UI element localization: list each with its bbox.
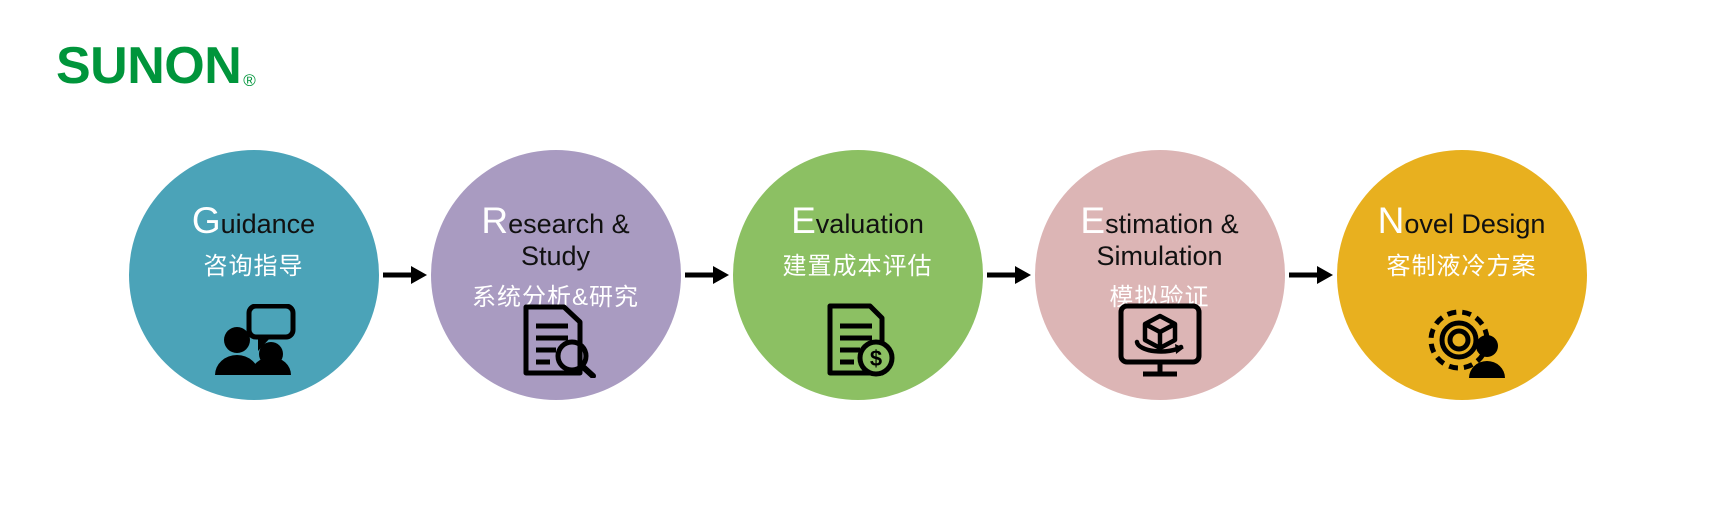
arrow-right-icon	[983, 255, 1035, 295]
monitor-3d-cube-icon	[1117, 302, 1203, 378]
people-speech-bubble-icon	[211, 302, 297, 378]
flow-step-estimation-simulation[interactable]: Estimation & Simulation 模拟验证	[1035, 150, 1285, 400]
flow-step-title-line2: Simulation	[1080, 241, 1238, 273]
flow-step-title: Novel Design	[1378, 202, 1546, 241]
svg-text:$: $	[869, 346, 881, 371]
process-flow-diagram: Guidance 咨询指导 R	[0, 140, 1715, 410]
arrow-right-icon	[681, 255, 733, 295]
flow-step-subtitle: 建置成本评估	[783, 246, 933, 281]
flow-step-title-initial: E	[1080, 200, 1105, 241]
flow-step-title: Guidance	[192, 202, 315, 241]
flow-step-research-study[interactable]: Research & Study 系统分析&研究	[431, 150, 681, 400]
flow-step-title: Research & Study	[481, 202, 629, 272]
flow-step-subtitle: 咨询指导	[204, 246, 304, 281]
document-dollar-icon: $	[815, 302, 901, 378]
registered-trademark-icon: ®	[243, 72, 256, 89]
flow-step-novel-design[interactable]: Novel Design 客制液冷方案	[1337, 150, 1587, 400]
arrow-right-icon	[1285, 255, 1337, 295]
flow-step-title-initial: G	[192, 200, 221, 241]
arrow-right-icon	[379, 255, 431, 295]
logo-wordmark: SUNON	[56, 40, 241, 92]
flow-step-title-rest: valuation	[816, 209, 924, 239]
flow-step-subtitle: 客制液冷方案	[1387, 246, 1537, 281]
document-magnifier-icon	[513, 302, 599, 378]
flow-step-title-initial: E	[791, 200, 816, 241]
flow-step-title-initial: N	[1378, 200, 1405, 241]
sunon-logo: SUNON ®	[56, 40, 256, 92]
flow-step-title-rest: uidance	[221, 209, 316, 239]
flow-step-title: Estimation & Simulation	[1080, 202, 1238, 272]
flow-step-title-initial: R	[481, 200, 508, 241]
flow-step-title-rest: stimation &	[1105, 209, 1239, 239]
process-flow-page: SUNON ® Guidance 咨询指导	[0, 0, 1715, 521]
flow-step-title-line2: Study	[481, 241, 629, 273]
gear-person-icon	[1419, 302, 1505, 378]
flow-step-evaluation[interactable]: Evaluation 建置成本评估 $	[733, 150, 983, 400]
flow-step-title-rest: esearch &	[508, 209, 630, 239]
flow-step-title-rest: ovel Design	[1404, 209, 1545, 239]
flow-step-guidance[interactable]: Guidance 咨询指导	[129, 150, 379, 400]
flow-step-title: Evaluation	[791, 202, 924, 241]
